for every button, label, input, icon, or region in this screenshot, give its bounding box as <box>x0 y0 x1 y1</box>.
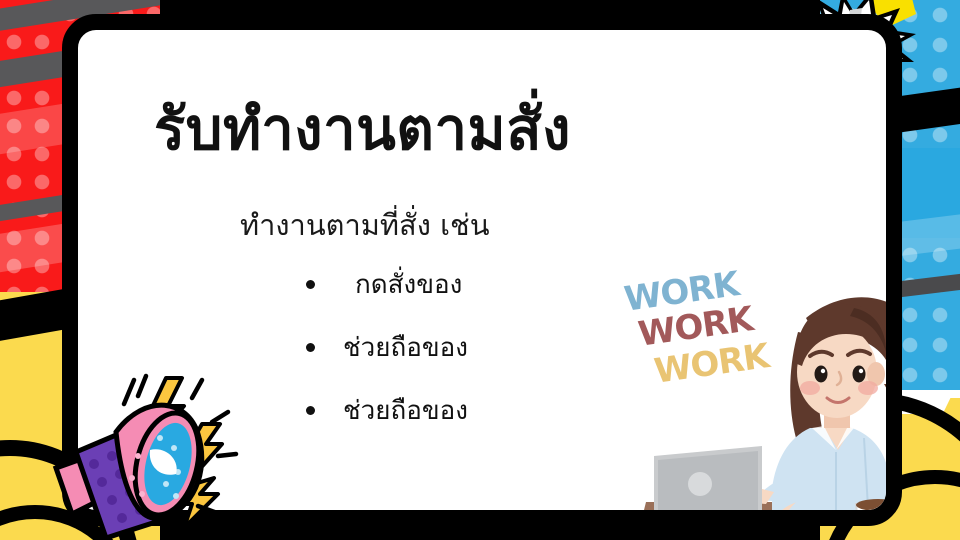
list-item: ช่วยถือของ <box>306 327 468 368</box>
woman-working-laptop-illustration <box>638 288 902 526</box>
subtitle-text: ทำงานตามที่สั่ง เช่น <box>240 202 490 248</box>
page-title: รับทำงานตามสั่ง <box>154 98 674 161</box>
bullet-dot-icon <box>306 343 315 352</box>
slide-canvas: รับทำงานตามสั่ง ทำงานตามที่สั่ง เช่น กดส… <box>0 0 960 540</box>
bullet-dot-icon <box>306 406 315 415</box>
megaphone-illustration <box>42 372 242 540</box>
list-item: ช่วยถือของ <box>306 390 468 431</box>
list-item-label: ช่วยถือของ <box>343 327 468 368</box>
frame-bar-bottom <box>160 526 820 540</box>
list-item-label: ช่วยถือของ <box>343 390 468 431</box>
list-item-label: กดสั่งของ <box>355 264 462 305</box>
list-item: กดสั่งของ <box>306 264 468 305</box>
service-bullet-list: กดสั่งของ ช่วยถือของ ช่วยถือของ <box>306 264 468 453</box>
bullet-dot-icon <box>306 280 315 289</box>
